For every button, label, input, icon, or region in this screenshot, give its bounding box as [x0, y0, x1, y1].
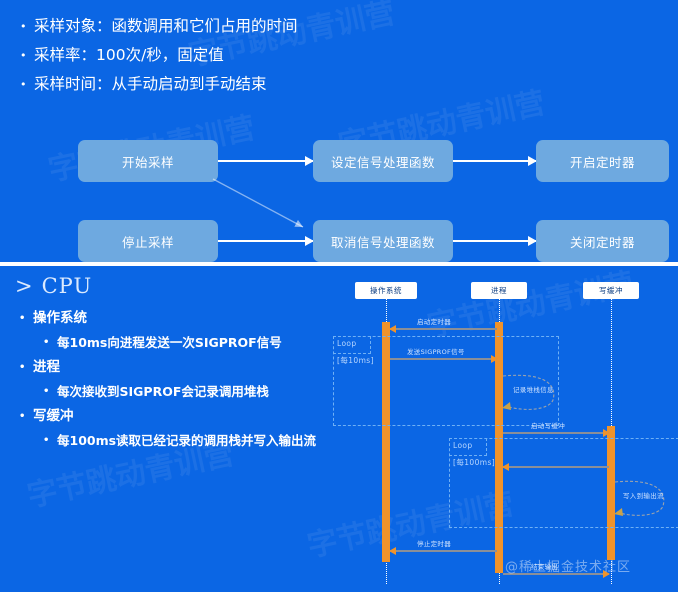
list-item: • 写缓冲: [19, 404, 349, 429]
loop-title-10ms: Loop: [337, 339, 357, 348]
list-item-label: 进程: [33, 355, 60, 380]
sequence-participant-process[interactable]: 进程: [471, 282, 527, 299]
cpu-sequence-diagram: 操作系统 进程 写缓冲 Loop [每10ms] Loop [每100ms] 启…: [335, 278, 678, 590]
list-item-label: 写缓冲: [33, 404, 74, 429]
list-item: • 操作系统: [19, 306, 349, 331]
message-line-send-sigprof: [390, 358, 497, 360]
flow-diagonal-arrow-icon: [211, 177, 321, 237]
bullet-dot-icon: •: [19, 355, 33, 380]
message-label-start-timer: 启动定时器: [417, 316, 451, 326]
list-item-label: 每10ms向进程发送一次SIGPROF信号: [57, 331, 282, 355]
sampling-bullet-list: • 采样对象：函数调用和它们占用的时间 • 采样率：100次/秒，固定值 • 采…: [20, 12, 298, 99]
bullet-dot-icon: •: [20, 12, 34, 41]
chevron-right-icon: >: [15, 274, 34, 298]
bullet-dot-icon: •: [43, 331, 57, 355]
message-label-record-stack: 记录堆栈信息: [513, 384, 554, 394]
list-item: • 每100ms读取已经记录的调用栈并写入输出流: [19, 429, 349, 453]
list-item: • 采样率：100次/秒，固定值: [20, 41, 298, 70]
list-item: • 每次接收到SIGPROF会记录调用堆栈: [19, 380, 349, 404]
slide-sampling-overview: 字节跳动青训营 字节跳动青训营 字节跳动青训营 • 采样对象：函数调用和它们占用…: [0, 0, 678, 262]
slide-sampling-inner: 字节跳动青训营 字节跳动青训营 字节跳动青训营 • 采样对象：函数调用和它们占用…: [6, 4, 672, 256]
site-watermark: @稀土掘金技术社区: [505, 556, 631, 575]
list-item-label: 采样率：100次/秒，固定值: [34, 41, 224, 70]
flow-node-start-sampling[interactable]: 开始采样: [78, 140, 218, 182]
flow-arrow-icon: [453, 240, 536, 242]
list-item: • 每10ms向进程发送一次SIGPROF信号: [19, 331, 349, 355]
list-item: • 采样对象：函数调用和它们占用的时间: [20, 12, 298, 41]
sequence-participant-os[interactable]: 操作系统: [355, 282, 417, 299]
message-line-start-timer: [390, 328, 497, 330]
loop-title-100ms: Loop: [453, 441, 473, 450]
flow-node-set-signal-handler[interactable]: 设定信号处理函数: [313, 140, 453, 182]
sequence-participant-write-buffer[interactable]: 写缓冲: [583, 282, 639, 299]
flow-node-start-timer[interactable]: 开启定时器: [536, 140, 669, 182]
flow-node-cancel-signal-handler[interactable]: 取消信号处理函数: [313, 220, 453, 262]
bullet-dot-icon: •: [20, 70, 34, 99]
loop-condition-100ms: [每100ms]: [453, 457, 495, 468]
slide-cpu-inner: 字节跳动青训营 字节跳动青训营 字节跳动青训营 >CPU • 操作系统 • 每1…: [5, 270, 673, 588]
message-label-write-output: 写入到输出流: [623, 490, 664, 500]
list-item-label: 每100ms读取已经记录的调用栈并写入输出流: [57, 429, 316, 453]
bullet-dot-icon: •: [19, 306, 33, 331]
flow-arrow-icon: [453, 160, 536, 162]
list-item-label: 每次接收到SIGPROF会记录调用堆栈: [57, 380, 269, 404]
message-line-write-buffer-return: [503, 466, 609, 468]
list-item-label: 采样时间：从手动启动到手动结束: [34, 70, 267, 99]
list-item-label: 操作系统: [33, 306, 87, 331]
loop-condition-10ms: [每10ms]: [337, 355, 374, 366]
flow-arrow-icon: [218, 240, 313, 242]
bullet-dot-icon: •: [43, 380, 57, 404]
bullet-dot-icon: •: [20, 41, 34, 70]
bullet-dot-icon: •: [19, 404, 33, 429]
slide-cpu-profiling: 字节跳动青训营 字节跳动青训营 字节跳动青训营 >CPU • 操作系统 • 每1…: [0, 266, 678, 592]
message-line-stop-timer: [390, 550, 497, 552]
list-item: • 进程: [19, 355, 349, 380]
flow-arrow-icon: [218, 160, 313, 162]
cpu-bullet-list: • 操作系统 • 每10ms向进程发送一次SIGPROF信号 • 进程 • 每次…: [19, 306, 349, 453]
page-title-label: CPU: [42, 274, 93, 298]
flow-node-stop-sampling[interactable]: 停止采样: [78, 220, 218, 262]
message-label-send-sigprof: 发送SIGPROF信号: [407, 346, 465, 356]
list-item: • 采样时间：从手动启动到手动结束: [20, 70, 298, 99]
sampling-flowchart: 开始采样 设定信号处理函数 开启定时器 停止采样 取消信号处理函数 关闭定时器: [6, 122, 678, 262]
flow-node-stop-timer[interactable]: 关闭定时器: [536, 220, 669, 262]
page-title: >CPU: [15, 274, 92, 298]
message-label-start-write-buffer: 启动写缓冲: [531, 420, 565, 430]
bullet-dot-icon: •: [43, 429, 57, 453]
message-line-start-write-buffer: [503, 432, 609, 434]
message-label-stop-timer: 停止定时器: [417, 538, 451, 548]
list-item-label: 采样对象：函数调用和它们占用的时间: [34, 12, 298, 41]
